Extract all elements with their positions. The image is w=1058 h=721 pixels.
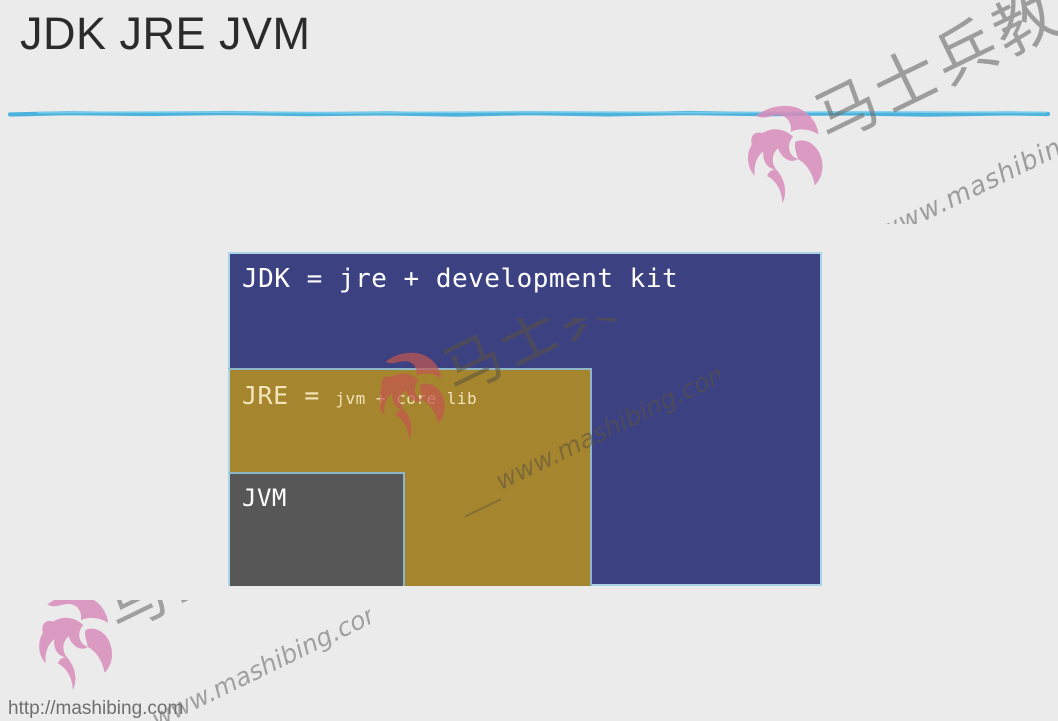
watermark-brand-cn: 马士兵教育 [803, 0, 1058, 157]
slide-canvas: JDK JRE JVM 马士兵教育 www.mashibing.com [0, 0, 1058, 721]
title-underline-rule [8, 106, 1050, 120]
jdk-box-label: JDK = jre + development kit [242, 266, 678, 292]
footer-url: http://mashibing.com [8, 698, 183, 720]
watermark-brand-cn: 马士兵教育 [94, 600, 370, 646]
jre-box-label: JRE = jvm + core lib [242, 383, 477, 408]
jre-label-sub: jvm + core lib [335, 389, 477, 408]
jre-label-main: JRE = [242, 381, 335, 410]
jvm-box: JVM [228, 472, 405, 586]
jvm-box-label: JVM [242, 486, 287, 510]
jdk-jre-jvm-diagram: JDK = jre + development kit JRE = jvm + … [228, 252, 822, 586]
page-title: JDK JRE JVM [20, 8, 311, 60]
horse-logo-icon [30, 600, 130, 696]
